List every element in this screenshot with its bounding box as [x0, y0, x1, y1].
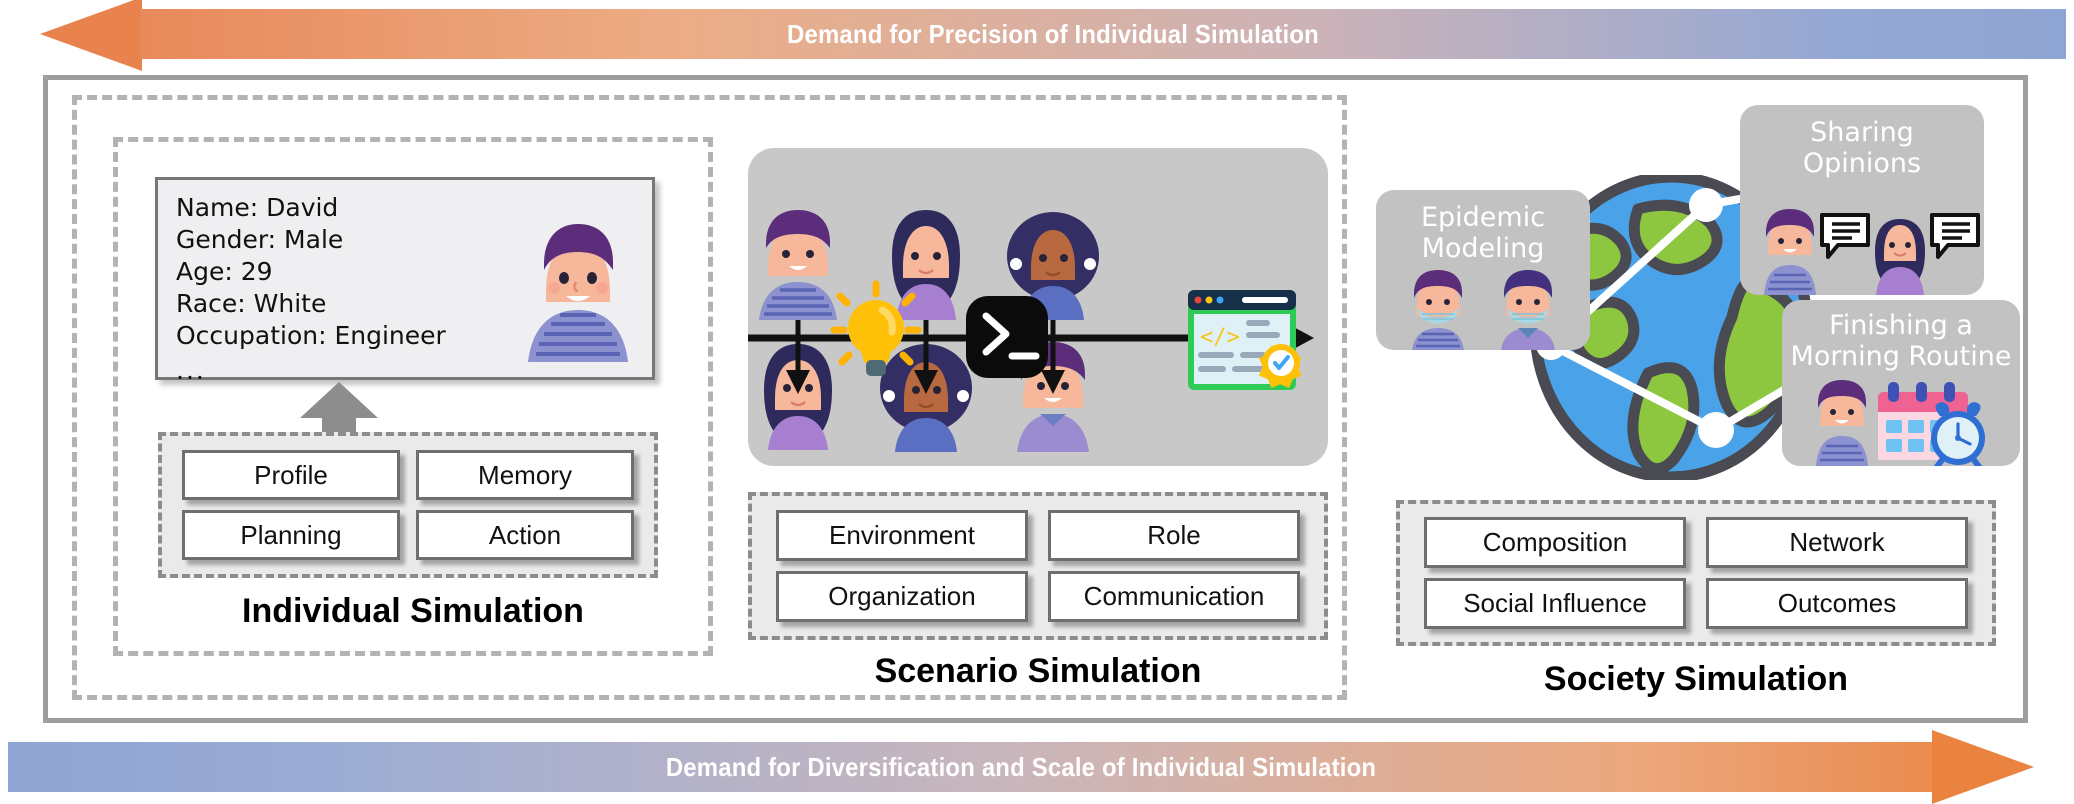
profile-line-occupation: Occupation: Engineer: [176, 320, 496, 352]
callout-sharing-label-line2: Opinions: [1740, 148, 1984, 179]
society-components-group: Composition Network Social Influence Out…: [1396, 500, 1996, 646]
profile-line-gender: Gender: Male: [176, 224, 496, 256]
component-role[interactable]: Role: [1048, 510, 1300, 561]
terminal-icon: [966, 296, 1048, 378]
top-arrow-label: Demand for Precision of Individual Simul…: [121, 9, 1985, 59]
profile-text: Name: David Gender: Male Age: 29 Race: W…: [176, 192, 496, 386]
scenario-simulation-title: Scenario Simulation: [748, 652, 1328, 691]
component-memory[interactable]: Memory: [416, 450, 634, 500]
masked-people-icon: [1376, 258, 1590, 350]
component-action[interactable]: Action: [416, 510, 634, 560]
component-environment[interactable]: Environment: [776, 510, 1028, 561]
figure-canvas: Demand for Precision of Individual Simul…: [0, 0, 2074, 804]
society-simulation-title: Society Simulation: [1396, 660, 1996, 699]
callout-morning-label-line1: Finishing a: [1782, 310, 2020, 341]
profile-line-name: Name: David: [176, 192, 496, 224]
scenario-avatar-top-1: [759, 210, 837, 320]
profile-line-age: Age: 29: [176, 256, 496, 288]
component-profile[interactable]: Profile: [182, 450, 400, 500]
individual-components-group: Profile Memory Planning Action: [158, 432, 658, 578]
svg-text:</>: </>: [1200, 325, 1240, 350]
speech-bubble-icon-2: [1932, 215, 1978, 257]
profile-line-race: Race: White: [176, 288, 496, 320]
profile-ellipsis: ...: [176, 352, 496, 386]
top-arrow: Demand for Precision of Individual Simul…: [40, 9, 2066, 59]
bottom-arrow: Demand for Diversification and Scale of …: [8, 742, 2034, 792]
component-composition[interactable]: Composition: [1424, 517, 1686, 568]
bottom-arrow-label: Demand for Diversification and Scale of …: [89, 742, 1953, 792]
callout-sharing-opinions: Sharing Opinions: [1740, 105, 1984, 295]
component-communication[interactable]: Communication: [1048, 571, 1300, 622]
speech-bubble-icon-1: [1822, 215, 1868, 257]
component-social-influence[interactable]: Social Influence: [1424, 578, 1686, 629]
callout-sharing-label-line1: Sharing: [1740, 117, 1984, 148]
male-avatar-purple-hair-icon: [520, 204, 636, 364]
component-organization[interactable]: Organization: [776, 571, 1028, 622]
component-outcomes[interactable]: Outcomes: [1706, 578, 1968, 629]
individual-simulation-title: Individual Simulation: [113, 592, 713, 631]
profile-card: Name: David Gender: Male Age: 29 Race: W…: [155, 177, 655, 380]
scenario-components-group: Environment Role Organization Communicat…: [748, 492, 1328, 640]
component-network[interactable]: Network: [1706, 517, 1968, 568]
lightbulb-icon: [834, 284, 918, 376]
callout-morning-routine: Finishing a Morning Routine: [1782, 300, 2020, 466]
callout-epidemic-label-line1: Epidemic: [1376, 202, 1590, 233]
person-avatar: [1816, 380, 1868, 466]
speech-bubble-people-icon: [1740, 195, 1984, 295]
component-planning[interactable]: Planning: [182, 510, 400, 560]
callout-epidemic-modeling: Epidemic Modeling: [1376, 190, 1590, 350]
callout-morning-label-line2: Morning Routine: [1782, 341, 2020, 372]
alarm-clock-icon: [1931, 402, 1985, 466]
scenario-illustration-panel: </>: [748, 148, 1328, 466]
scenario-illustration: </>: [748, 148, 1328, 466]
calendar-clock-icon: [1782, 372, 2020, 466]
